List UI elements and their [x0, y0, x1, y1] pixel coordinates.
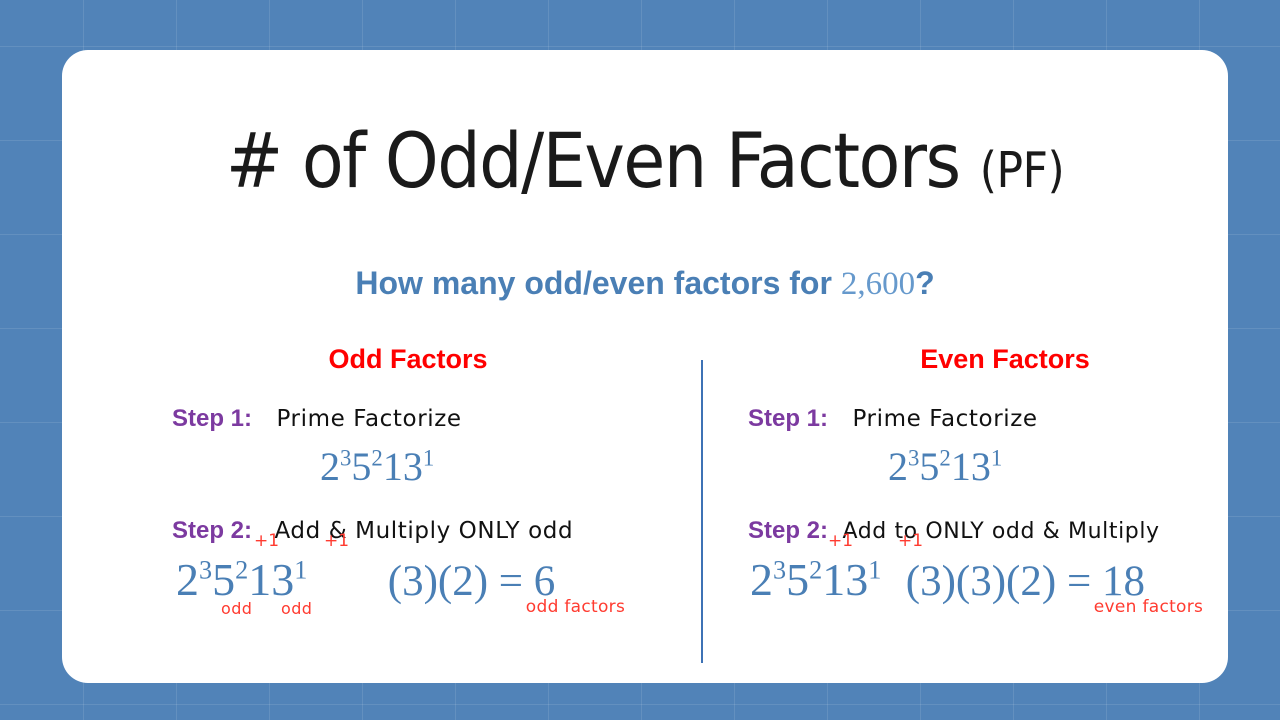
odd-result: (3)(2) = 6 odd factors: [388, 557, 556, 606]
even-step2-label: Step 2:: [748, 517, 828, 545]
odd-factors-column: Step 1: Prime Factorize 2352131 Step 2: …: [172, 405, 692, 633]
even-s1-exp2: 2: [939, 446, 950, 471]
odd-s1-base2: 5: [351, 444, 371, 489]
subtitle-question: How many odd/even factors for 2,600?: [62, 265, 1228, 303]
odd-plus-one-annotation-2: +1: [324, 531, 349, 551]
odd-step2-formula: 2352131 +1 +1 odd odd: [176, 553, 307, 606]
even-s2-exp3: 1: [868, 556, 881, 585]
column-divider: [701, 360, 703, 663]
odd-step2-label: Step 2:: [172, 517, 252, 545]
odd-factors-header: Odd Factors: [310, 344, 506, 375]
odd-s1-base3: 13: [383, 444, 423, 489]
even-step1-formula-row: 2352131: [748, 443, 1228, 505]
even-step2-formula: 2352131 +1 +1: [750, 553, 881, 606]
odd-s2-base1: 2: [176, 554, 199, 605]
even-factors-column: Step 1: Prime Factorize 2352131 Step 2: …: [748, 405, 1228, 633]
page-title: # of Odd/Even Factors (PF): [62, 116, 1228, 205]
even-step1-formula: 2352131: [888, 443, 1002, 490]
even-plus-one-annotation-2: +1: [898, 531, 923, 551]
odd-label-annotation-2: odd: [281, 599, 312, 618]
even-s2-base1: 2: [750, 554, 773, 605]
even-s1-exp3: 1: [991, 446, 1002, 471]
even-s2-base3: 13: [822, 554, 868, 605]
odd-s2-exp1: 3: [199, 556, 212, 585]
even-s1-base3: 13: [951, 444, 991, 489]
even-step2-row: Step 2: Add to ONLY odd & Multiply: [748, 517, 1228, 553]
even-factors-header: Even Factors: [907, 344, 1103, 375]
odd-step2-text: Add & Multiply ONLY odd: [274, 518, 573, 544]
even-step2-formula-row: 2352131 +1 +1 (3)(3)(2) = 18 even factor…: [748, 553, 1228, 633]
even-s1-base2: 5: [919, 444, 939, 489]
even-s1-exp1: 3: [908, 446, 919, 471]
subtitle-question-mark: ?: [915, 265, 935, 301]
odd-s2-base2: 5: [212, 554, 235, 605]
subtitle-lead: How many odd/even factors for: [355, 265, 840, 301]
odd-step1-text: Prime Factorize: [276, 406, 461, 432]
odd-s2-base3: 13: [248, 554, 294, 605]
even-s2-exp1: 3: [773, 556, 786, 585]
even-step2-text: Add to ONLY odd & Multiply: [842, 519, 1159, 544]
even-step1-row: Step 1: Prime Factorize: [748, 405, 1228, 443]
even-result-caption: even factors: [1094, 597, 1203, 617]
odd-step2-row: Step 2: Add & Multiply ONLY odd: [172, 517, 692, 553]
odd-s2-exp2: 2: [235, 556, 248, 585]
odd-plus-one-annotation-1: +1: [254, 531, 279, 551]
odd-step1-row: Step 1: Prime Factorize: [172, 405, 692, 443]
even-plus-one-annotation-1: +1: [828, 531, 853, 551]
page-title-abbreviation: (PF): [980, 142, 1064, 199]
odd-s1-base1: 2: [320, 444, 340, 489]
even-s1-base1: 2: [888, 444, 908, 489]
odd-step1-formula-row: 2352131: [172, 443, 692, 505]
even-result: (3)(3)(2) = 18 even factors: [906, 557, 1145, 606]
odd-step1-label: Step 1:: [172, 405, 252, 433]
odd-step1-formula: 2352131: [320, 443, 434, 490]
even-s2-exp2: 2: [809, 556, 822, 585]
odd-s1-exp2: 2: [371, 446, 382, 471]
odd-label-annotation-1: odd: [221, 599, 252, 618]
odd-s2-exp3: 1: [294, 556, 307, 585]
page-title-main: # of Odd/Even Factors: [226, 116, 980, 205]
odd-result-caption: odd factors: [526, 597, 625, 617]
odd-step2-formula-row: 2352131 +1 +1 odd odd (3)(2) = 6 odd fac…: [172, 553, 692, 633]
even-step1-label: Step 1:: [748, 405, 828, 433]
slide-card: # of Odd/Even Factors (PF) How many odd/…: [62, 50, 1228, 683]
odd-s1-exp3: 1: [423, 446, 434, 471]
even-s2-base2: 5: [786, 554, 809, 605]
even-step1-text: Prime Factorize: [852, 406, 1037, 432]
odd-s1-exp1: 3: [340, 446, 351, 471]
subtitle-number: 2,600: [841, 266, 915, 302]
